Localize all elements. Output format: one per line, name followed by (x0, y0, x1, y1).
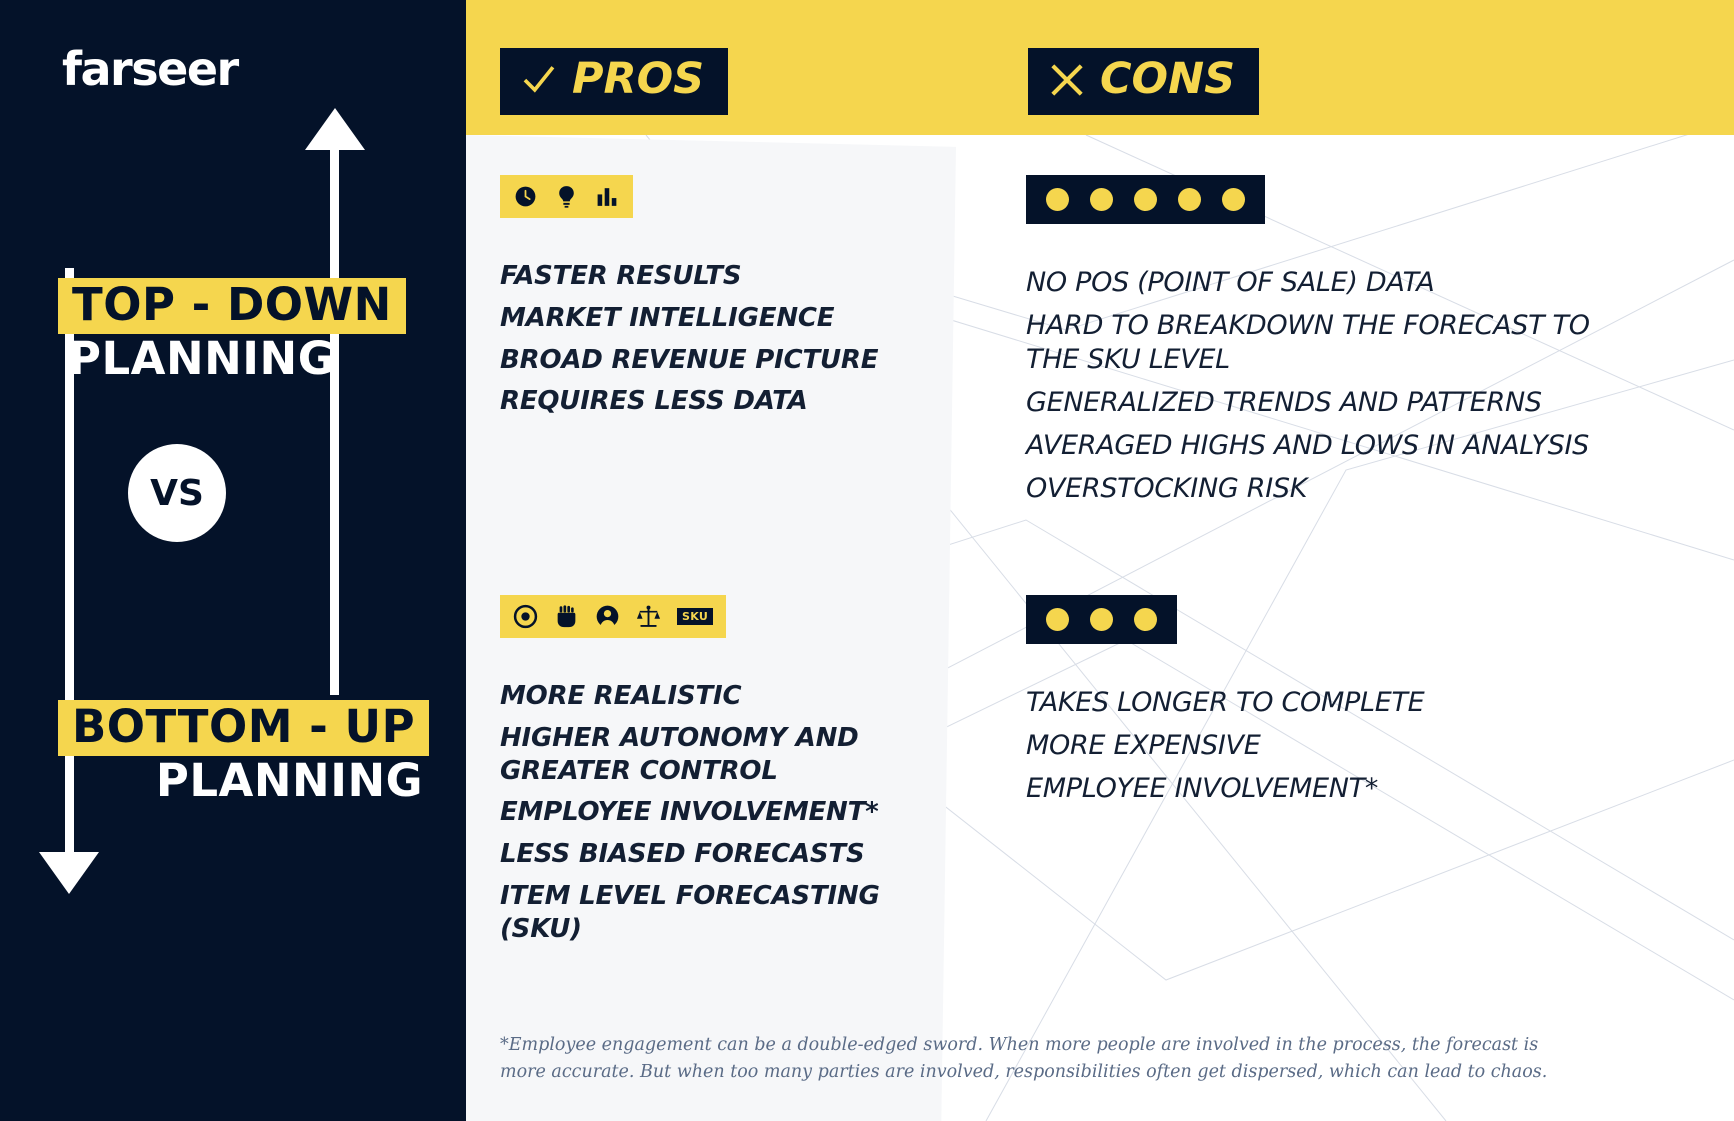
list-item: REQUIRES LESS DATA (500, 385, 970, 418)
lightbulb-icon (554, 184, 579, 209)
list-item: MARKET INTELLIGENCE (500, 302, 970, 335)
scales-icon (636, 604, 661, 629)
person-icon (595, 604, 620, 629)
footnote: *Employee engagement can be a double-edg… (500, 1032, 1575, 1086)
list-item: TAKES LONGER TO COMPLETE (1026, 686, 1606, 720)
clock-icon (513, 184, 538, 209)
top-down-highlight: TOP - DOWN (58, 278, 406, 334)
pros-top-block: FASTER RESULTS MARKET INTELLIGENCE BROAD… (500, 175, 970, 427)
bottom-up-planning-label: BOTTOM - UP PLANNING (58, 700, 429, 806)
brand-logo: farseer (62, 42, 238, 96)
cons-top-block: NO POS (POINT OF SALE) DATA HARD TO BREA… (1026, 175, 1606, 515)
cons-bottom-block: TAKES LONGER TO COMPLETE MORE EXPENSIVE … (1026, 595, 1606, 815)
axis-rail-right (330, 130, 339, 695)
dot-icon (1178, 188, 1201, 211)
list-item: GENERALIZED TRENDS AND PATTERNS (1026, 386, 1606, 420)
sku-icon: SKU (677, 608, 713, 625)
top-down-plain: PLANNING (58, 334, 406, 384)
left-panel: farseer TOP - DOWN PLANNING VS BOTTOM - … (0, 0, 466, 1121)
list-item: MORE EXPENSIVE (1026, 729, 1606, 763)
list-item: HIGHER AUTONOMY AND GREATER CONTROL (500, 722, 970, 788)
cons-bottom-dot-strip (1026, 595, 1177, 644)
list-item: LESS BIASED FORECASTS (500, 838, 970, 871)
top-down-planning-label: TOP - DOWN PLANNING (58, 278, 406, 384)
dot-icon (1134, 188, 1157, 211)
list-item: NO POS (POINT OF SALE) DATA (1026, 266, 1606, 300)
bar-chart-icon (595, 184, 620, 209)
cons-top-dot-strip (1026, 175, 1265, 224)
list-item: MORE REALISTIC (500, 680, 970, 713)
cons-header-badge: CONS (1028, 48, 1259, 115)
list-item: OVERSTOCKING RISK (1026, 472, 1606, 506)
pros-top-list: FASTER RESULTS MARKET INTELLIGENCE BROAD… (500, 260, 970, 418)
list-item: FASTER RESULTS (500, 260, 970, 293)
pros-bottom-icon-strip: SKU (500, 595, 726, 638)
pros-header-badge: PROS (500, 48, 728, 115)
cons-header-label: CONS (1100, 58, 1235, 101)
list-item: EMPLOYEE INVOLVEMENT* (500, 796, 970, 829)
check-icon (522, 63, 556, 97)
dot-icon (1134, 608, 1157, 631)
pros-bottom-list: MORE REALISTIC HIGHER AUTONOMY AND GREAT… (500, 680, 970, 945)
bottom-up-plain: PLANNING (58, 756, 429, 806)
target-icon (513, 604, 538, 629)
arrow-down-icon (39, 852, 99, 894)
pros-top-icon-strip (500, 175, 633, 218)
pros-header-label: PROS (572, 58, 704, 101)
list-item: ITEM LEVEL FORECASTING (SKU) (500, 880, 970, 946)
list-item: HARD TO BREAKDOWN THE FORECAST TO THE SK… (1026, 309, 1606, 377)
close-icon (1050, 63, 1084, 97)
dot-icon (1090, 608, 1113, 631)
dot-icon (1046, 608, 1069, 631)
vs-badge: VS (128, 444, 226, 542)
dot-icon (1222, 188, 1245, 211)
list-item: EMPLOYEE INVOLVEMENT* (1026, 772, 1606, 806)
list-item: AVERAGED HIGHS AND LOWS IN ANALYSIS (1026, 429, 1606, 463)
pros-bottom-block: SKU MORE REALISTIC HIGHER AUTONOMY AND G… (500, 595, 970, 954)
content-area: PROS CONS (466, 0, 1734, 1121)
dot-icon (1090, 188, 1113, 211)
dot-icon (1046, 188, 1069, 211)
cons-top-list: NO POS (POINT OF SALE) DATA HARD TO BREA… (1026, 266, 1606, 506)
cons-bottom-list: TAKES LONGER TO COMPLETE MORE EXPENSIVE … (1026, 686, 1606, 806)
list-item: BROAD REVENUE PICTURE (500, 344, 970, 377)
infographic-root: farseer TOP - DOWN PLANNING VS BOTTOM - … (0, 0, 1734, 1121)
bottom-up-highlight: BOTTOM - UP (58, 700, 429, 756)
raised-fist-icon (554, 604, 579, 629)
